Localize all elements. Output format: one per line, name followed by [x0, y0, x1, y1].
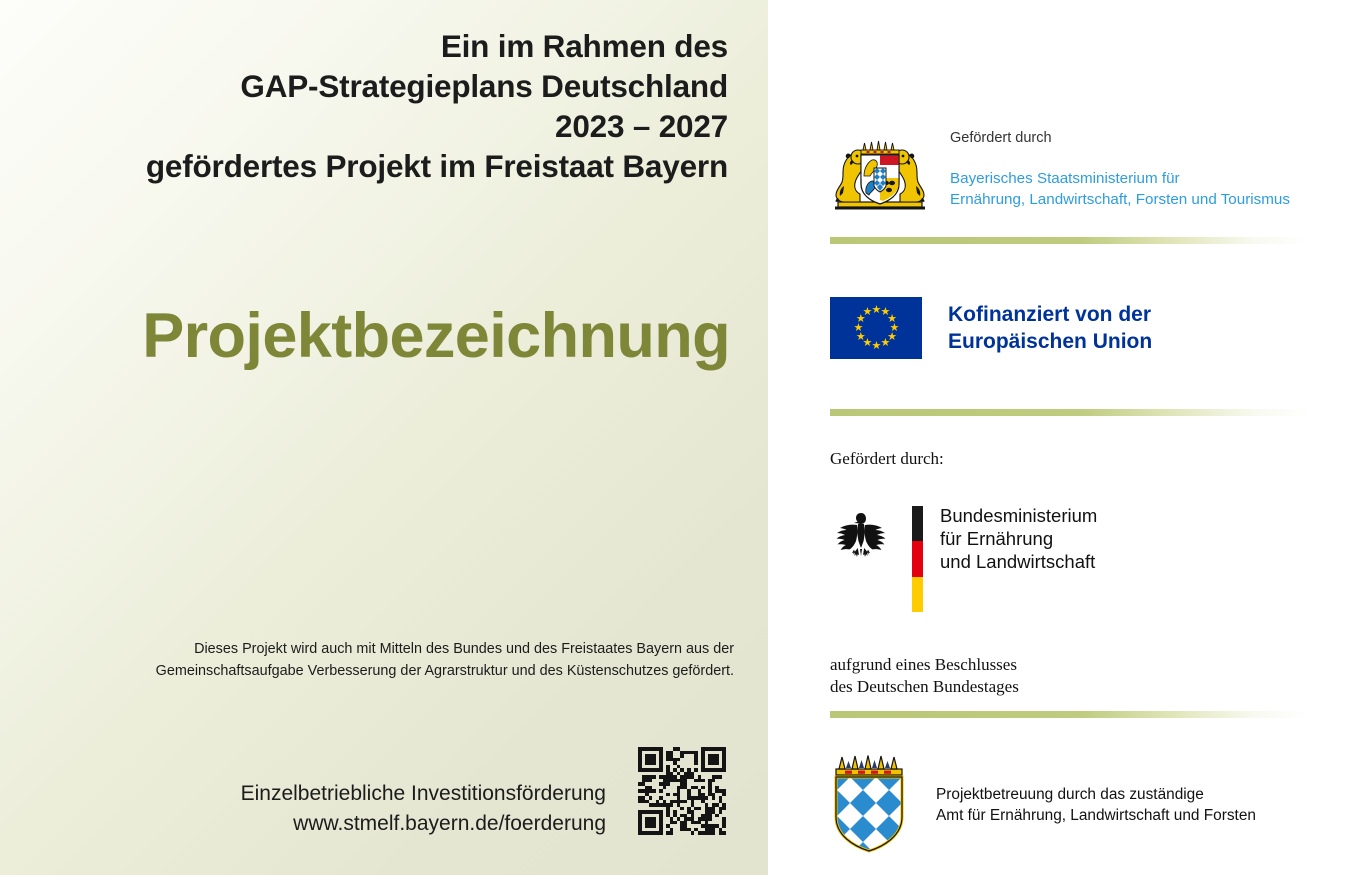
- eu-logo-block: ★★★★★★★★★★★★ Kofinanziert von der Europä…: [830, 297, 1152, 359]
- bavarian-great-coat-of-arms-icon: [830, 138, 930, 210]
- bmel-name-line-1: Bundesministerium: [940, 504, 1097, 527]
- headline: Ein im Rahmen des GAP-Strategieplans Deu…: [28, 26, 728, 186]
- bmel-name-line-2: für Ernährung: [940, 527, 1097, 550]
- stmelf-text-group: Gefördert durch Bayerisches Staatsminist…: [950, 128, 1290, 210]
- project-title: Projektbezeichnung: [0, 300, 730, 372]
- eu-text-group: Kofinanziert von der Europäischen Union: [948, 301, 1152, 355]
- aelf-logo-block: Projektbetreuung durch das zuständige Am…: [830, 755, 1256, 855]
- divider-2: [830, 409, 1310, 416]
- german-tricolor-bar-icon: [912, 506, 923, 612]
- headline-line-1: Ein im Rahmen des: [28, 26, 728, 66]
- stmelf-name-line-2: Ernährung, Landwirtschaft, Forsten und T…: [950, 189, 1290, 210]
- eu-text-line-1: Kofinanziert von der: [948, 301, 1152, 328]
- federal-eagle-icon: [832, 508, 890, 566]
- poster-root: Ein im Rahmen des GAP-Strategieplans Deu…: [0, 0, 1352, 875]
- bmel-logo: Bundesministerium für Ernährung und Land…: [830, 506, 1330, 612]
- programme-name: Einzelbetriebliche Investitionsförderung: [241, 779, 606, 809]
- eu-star-icon: ★: [872, 306, 881, 315]
- eu-star-icon: ★: [854, 324, 863, 333]
- funding-note: Dieses Projekt wird auch mit Mitteln des…: [28, 638, 734, 682]
- bmel-footnote: aufgrund eines Beschlusses des Deutschen…: [830, 654, 1330, 698]
- funding-note-line-1: Dieses Projekt wird auch mit Mitteln des…: [28, 638, 734, 660]
- stmelf-name-line-1: Bayerisches Staatsministerium für: [950, 168, 1290, 189]
- bmel-logo-block: Gefördert durch:: [830, 448, 1330, 698]
- divider-3: [830, 711, 1310, 718]
- bottom-left-group: Einzelbetriebliche Investitionsförderung…: [30, 755, 744, 847]
- stmelf-funded-by-label: Gefördert durch: [950, 128, 1290, 148]
- eu-star-icon: ★: [872, 342, 881, 351]
- bmel-funded-by-label: Gefördert durch:: [830, 448, 1330, 470]
- divider-1: [830, 237, 1310, 244]
- bavaria-shield-icon: [830, 755, 908, 855]
- aelf-text-line-2: Amt für Ernährung, Landwirtschaft und Fo…: [936, 805, 1256, 826]
- eu-text-line-2: Europäischen Union: [948, 328, 1152, 355]
- eu-star-icon: ★: [881, 339, 890, 348]
- eu-flag-icon: ★★★★★★★★★★★★: [830, 297, 922, 359]
- headline-line-3: 2023 – 2027: [28, 106, 728, 146]
- programme-url[interactable]: www.stmelf.bayern.de/foerderung: [241, 809, 606, 839]
- bmel-footnote-line-2: des Deutschen Bundestages: [830, 676, 1330, 698]
- headline-line-2: GAP-Strategieplans Deutschland: [28, 66, 728, 106]
- aelf-text-group: Projektbetreuung durch das zuständige Am…: [936, 784, 1256, 826]
- bmel-name-group: Bundesministerium für Ernährung und Land…: [940, 504, 1097, 573]
- qr-code-icon[interactable]: [638, 747, 726, 835]
- right-column: Gefördert durch Bayerisches Staatsminist…: [768, 0, 1352, 875]
- bmel-name-line-3: und Landwirtschaft: [940, 550, 1097, 573]
- eu-star-icon: ★: [863, 308, 872, 317]
- headline-line-4: gefördertes Projekt im Freistaat Bayern: [28, 146, 728, 186]
- left-panel: Ein im Rahmen des GAP-Strategieplans Deu…: [0, 0, 768, 875]
- programme-url-block: Einzelbetriebliche Investitionsförderung…: [241, 779, 606, 839]
- bmel-footnote-line-1: aufgrund eines Beschlusses: [830, 654, 1330, 676]
- eu-star-icon: ★: [856, 333, 865, 342]
- aelf-text-line-1: Projektbetreuung durch das zuständige: [936, 784, 1256, 805]
- funding-note-line-2: Gemeinschaftsaufgabe Verbesserung der Ag…: [28, 660, 734, 682]
